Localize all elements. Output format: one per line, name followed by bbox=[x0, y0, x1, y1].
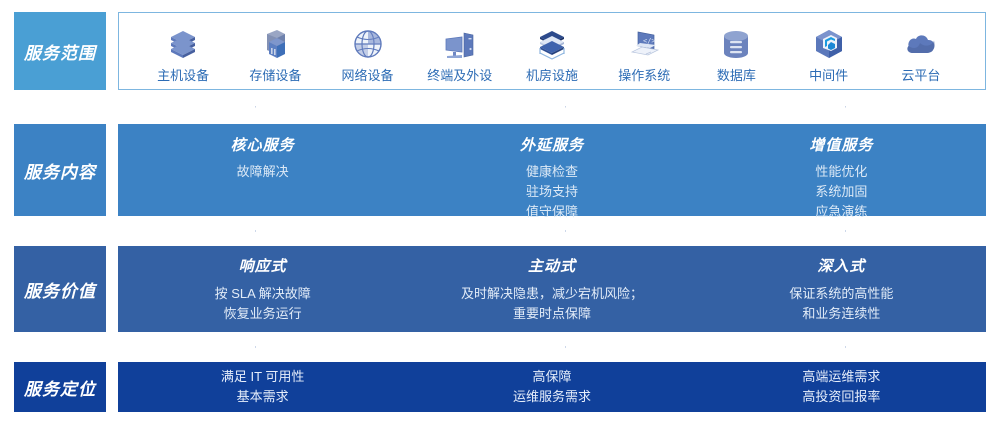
column-line: 驻场支持 bbox=[526, 182, 578, 202]
scope-item-label: 中间件 bbox=[809, 69, 848, 83]
scope-item-label: 数据库 bbox=[717, 69, 756, 83]
service-content-panel: 核心服务 故障解决 外延服务 健康检查 驻场支持 值守保障 增值服务 性能优化 … bbox=[118, 124, 986, 216]
service-framework-diagram: 服务范围 bbox=[0, 0, 1000, 424]
scope-item-network-device[interactable]: 网络设备 bbox=[321, 26, 413, 83]
positioning-column-highend[interactable]: 高端运维需求 高投资回报率 bbox=[697, 362, 986, 412]
scope-item-label: 终端及外设 bbox=[427, 69, 492, 83]
scope-item-label: 操作系统 bbox=[618, 69, 670, 83]
column-lines: 满足 IT 可用性 基本需求 bbox=[221, 367, 305, 407]
column-title: 核心服务 bbox=[231, 137, 295, 155]
operating-system-icon: </> bbox=[622, 26, 666, 66]
content-columns: 核心服务 故障解决 外延服务 健康检查 驻场支持 值守保障 增值服务 性能优化 … bbox=[118, 124, 986, 216]
value-column-indepth[interactable]: 深入式 保证系统的高性能 和业务连续性 bbox=[697, 246, 986, 332]
content-column-core-service[interactable]: 核心服务 故障解决 bbox=[118, 124, 407, 216]
row-label-text: 服务定位 bbox=[24, 375, 96, 400]
data-center-icon bbox=[530, 26, 574, 66]
content-column-value-added-service[interactable]: 增值服务 性能优化 系统加固 应急演练 bbox=[697, 124, 986, 216]
connector-arrow-double bbox=[565, 332, 566, 362]
column-lines: 性能优化 系统加固 应急演练 bbox=[815, 162, 867, 222]
globe-network-icon bbox=[346, 26, 390, 66]
connector-group-scope-to-content bbox=[118, 90, 986, 124]
connector-group-value-to-position bbox=[118, 332, 986, 362]
column-line: 健康检查 bbox=[526, 162, 578, 182]
column-line: 高端运维需求 bbox=[802, 367, 880, 387]
column-line: 及时解决隐患，减少宕机风险； bbox=[461, 284, 643, 304]
connector-arrow-up bbox=[255, 90, 256, 124]
positioning-column-assurance[interactable]: 高保障 运维服务需求 bbox=[407, 362, 696, 412]
column-lines: 健康检查 驻场支持 值守保障 bbox=[526, 162, 578, 222]
column-line: 和业务连续性 bbox=[789, 304, 893, 324]
scope-item-label: 机房设施 bbox=[526, 69, 578, 83]
column-lines: 保证系统的高性能 和业务连续性 bbox=[789, 284, 893, 324]
scope-item-storage-device[interactable]: 存储设备 bbox=[229, 26, 321, 83]
row-label-service-value: 服务价值 bbox=[14, 246, 106, 332]
connector-arrow-double bbox=[255, 332, 256, 362]
connector-arrow-up bbox=[565, 90, 566, 124]
connector-arrow-double bbox=[845, 216, 846, 246]
column-title: 深入式 bbox=[817, 258, 865, 276]
scope-item-database[interactable]: 数据库 bbox=[690, 26, 782, 83]
column-title: 主动式 bbox=[528, 258, 576, 276]
connector-arrow-up bbox=[845, 90, 846, 124]
desktop-terminal-icon bbox=[438, 26, 482, 66]
value-column-proactive[interactable]: 主动式 及时解决隐患，减少宕机风险； 重要时点保障 bbox=[407, 246, 696, 332]
content-column-extended-service[interactable]: 外延服务 健康检查 驻场支持 值守保障 bbox=[407, 124, 696, 216]
service-positioning-panel: 满足 IT 可用性 基本需求 高保障 运维服务需求 高端运维需求 高投资回报率 bbox=[118, 362, 986, 412]
server-stack-icon bbox=[161, 26, 205, 66]
column-line: 高投资回报率 bbox=[802, 387, 880, 407]
column-line: 性能优化 bbox=[815, 162, 867, 182]
column-lines: 及时解决隐患，减少宕机风险； 重要时点保障 bbox=[461, 284, 643, 324]
scope-item-label: 云平台 bbox=[901, 69, 940, 83]
scope-item-host-device[interactable]: 主机设备 bbox=[137, 26, 229, 83]
scope-item-terminal-peripheral[interactable]: 终端及外设 bbox=[414, 26, 506, 83]
column-line: 按 SLA 解决故障 bbox=[215, 284, 311, 304]
row-label-text: 服务内容 bbox=[24, 158, 96, 183]
scope-item-label: 网络设备 bbox=[342, 69, 394, 83]
column-line: 故障解决 bbox=[237, 162, 289, 182]
column-line: 重要时点保障 bbox=[461, 304, 643, 324]
column-title: 响应式 bbox=[239, 258, 287, 276]
value-column-reactive[interactable]: 响应式 按 SLA 解决故障 恢复业务运行 bbox=[118, 246, 407, 332]
scope-item-label: 主机设备 bbox=[157, 69, 209, 83]
row-label-service-positioning: 服务定位 bbox=[14, 362, 106, 412]
connector-group-content-to-value bbox=[118, 216, 986, 246]
connector-arrow-double bbox=[845, 332, 846, 362]
column-lines: 高端运维需求 高投资回报率 bbox=[802, 367, 880, 407]
icon-strip: 主机设备 存储设备 bbox=[119, 13, 985, 89]
column-line: 保证系统的高性能 bbox=[789, 284, 893, 304]
positioning-column-basic[interactable]: 满足 IT 可用性 基本需求 bbox=[118, 362, 407, 412]
connector-arrow-double bbox=[255, 216, 256, 246]
column-line: 恢复业务运行 bbox=[215, 304, 311, 324]
column-lines: 高保障 运维服务需求 bbox=[513, 367, 591, 407]
scope-item-data-center[interactable]: 机房设施 bbox=[506, 26, 598, 83]
scope-item-middleware[interactable]: 中间件 bbox=[783, 26, 875, 83]
column-lines: 故障解决 bbox=[237, 162, 289, 182]
scope-item-operating-system[interactable]: </> 操作系统 bbox=[598, 26, 690, 83]
row-label-service-content: 服务内容 bbox=[14, 124, 106, 216]
column-line: 高保障 bbox=[513, 367, 591, 387]
column-line: 运维服务需求 bbox=[513, 387, 591, 407]
column-line: 系统加固 bbox=[815, 182, 867, 202]
connector-arrow-double bbox=[565, 216, 566, 246]
row-label-text: 服务价值 bbox=[24, 277, 96, 302]
row-label-text: 服务范围 bbox=[24, 39, 96, 64]
column-title: 外延服务 bbox=[520, 137, 584, 155]
cloud-platform-icon bbox=[899, 26, 943, 66]
middleware-cube-icon bbox=[807, 26, 851, 66]
service-scope-panel: 主机设备 存储设备 bbox=[118, 12, 986, 90]
positioning-columns: 满足 IT 可用性 基本需求 高保障 运维服务需求 高端运维需求 高投资回报率 bbox=[118, 362, 986, 412]
service-value-panel: 响应式 按 SLA 解决故障 恢复业务运行 主动式 及时解决隐患，减少宕机风险；… bbox=[118, 246, 986, 332]
value-columns: 响应式 按 SLA 解决故障 恢复业务运行 主动式 及时解决隐患，减少宕机风险；… bbox=[118, 246, 986, 332]
storage-array-icon bbox=[253, 26, 297, 66]
column-title: 增值服务 bbox=[809, 137, 873, 155]
database-icon bbox=[714, 26, 758, 66]
row-label-service-scope: 服务范围 bbox=[14, 12, 106, 90]
column-line: 基本需求 bbox=[221, 387, 305, 407]
scope-item-cloud-platform[interactable]: 云平台 bbox=[875, 26, 967, 83]
column-line: 满足 IT 可用性 bbox=[221, 367, 305, 387]
column-lines: 按 SLA 解决故障 恢复业务运行 bbox=[215, 284, 311, 324]
scope-item-label: 存储设备 bbox=[249, 69, 301, 83]
